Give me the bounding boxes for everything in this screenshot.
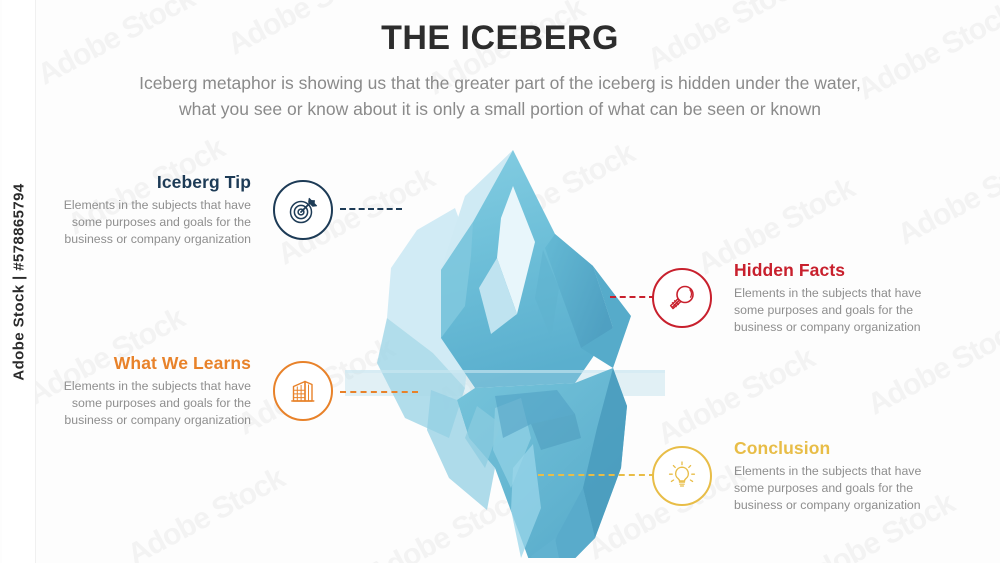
node-iceberg-tip-body-line1: Elements in the subjects that have [38,197,251,214]
node-what-we-learns-body-line3: business or company organization [38,412,251,429]
page-subtitle: Iceberg metaphor is showing us that the … [0,71,1000,122]
node-iceberg-tip-body-line2: some purposes and goals for the [38,214,251,231]
node-hidden-facts-text: Hidden Facts Elements in the subjects th… [734,260,947,336]
magnifier-icon [666,282,698,314]
node-conclusion-body: Elements in the subjects that have some … [734,463,947,514]
node-conclusion-body-line2: some purposes and goals for the [734,480,947,497]
watermark-tile: Adobe Stock [892,142,1000,253]
node-iceberg-tip-body-line3: business or company organization [38,231,251,248]
watermark-tile: Adobe Stock [652,342,820,453]
infographic-canvas: Adobe Stock Adobe Stock Adobe Stock Adob… [0,0,1000,563]
node-iceberg-tip-heading: Iceberg Tip [38,172,251,193]
node-iceberg-tip-icon-circle[interactable] [273,180,333,240]
stock-watermark-sidebar: Adobe Stock | #578865794 [2,0,36,563]
connector-what-we-learns [340,391,418,393]
node-hidden-facts-body-line1: Elements in the subjects that have [734,285,947,302]
node-hidden-facts-icon-circle[interactable] [652,268,712,328]
node-hidden-facts-body-line3: business or company organization [734,319,947,336]
building-icon [287,375,319,407]
stock-watermark-text: Adobe Stock | #578865794 [10,183,27,380]
node-what-we-learns-icon-circle[interactable] [273,361,333,421]
node-what-we-learns[interactable]: What We Learns Elements in the subjects … [38,353,333,429]
node-conclusion-heading: Conclusion [734,438,947,459]
page-subtitle-line1: Iceberg metaphor is showing us that the … [0,71,1000,96]
node-what-we-learns-body-line2: some purposes and goals for the [38,395,251,412]
node-what-we-learns-text: What We Learns Elements in the subjects … [38,353,251,429]
node-conclusion[interactable]: Conclusion Elements in the subjects that… [652,438,947,514]
node-what-we-learns-heading: What We Learns [38,353,251,374]
node-hidden-facts-body: Elements in the subjects that have some … [734,285,947,336]
iceberg-upper-body [441,150,631,388]
node-what-we-learns-body: Elements in the subjects that have some … [38,378,251,429]
node-iceberg-tip-body: Elements in the subjects that have some … [38,197,251,248]
node-conclusion-body-line3: business or company organization [734,497,947,514]
node-hidden-facts-body-line2: some purposes and goals for the [734,302,947,319]
watermark-tile: Adobe Stock [122,462,290,563]
connector-iceberg-tip [340,208,402,210]
connector-hidden-facts [610,296,655,298]
node-what-we-learns-body-line1: Elements in the subjects that have [38,378,251,395]
target-icon [286,193,320,227]
page-title: THE ICEBERG [0,20,1000,57]
node-hidden-facts-heading: Hidden Facts [734,260,947,281]
node-conclusion-body-line1: Elements in the subjects that have [734,463,947,480]
node-conclusion-text: Conclusion Elements in the subjects that… [734,438,947,514]
node-iceberg-tip[interactable]: Iceberg Tip Elements in the subjects tha… [38,172,333,248]
node-iceberg-tip-text: Iceberg Tip Elements in the subjects tha… [38,172,251,248]
iceberg-illustration [345,138,665,558]
page-subtitle-line2: what you see or know about it is only a … [0,97,1000,122]
header: THE ICEBERG Iceberg metaphor is showing … [0,20,1000,122]
connector-conclusion [538,474,655,476]
node-conclusion-icon-circle[interactable] [652,446,712,506]
lightbulb-icon [665,459,699,493]
node-hidden-facts[interactable]: Hidden Facts Elements in the subjects th… [652,260,947,336]
